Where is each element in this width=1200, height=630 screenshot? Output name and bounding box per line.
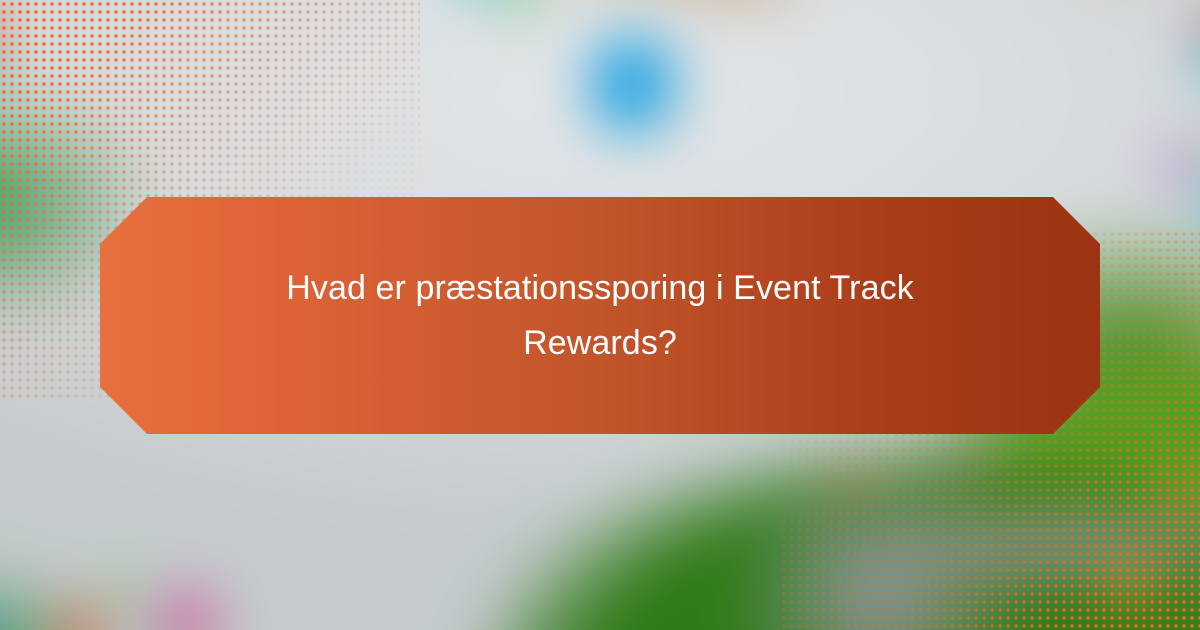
title-banner: Hvad er præstationssporing i Event Track… bbox=[100, 197, 1100, 434]
page-title: Hvad er præstationssporing i Event Track… bbox=[160, 261, 1040, 371]
share-card-canvas: Hvad er præstationssporing i Event Track… bbox=[0, 0, 1200, 630]
